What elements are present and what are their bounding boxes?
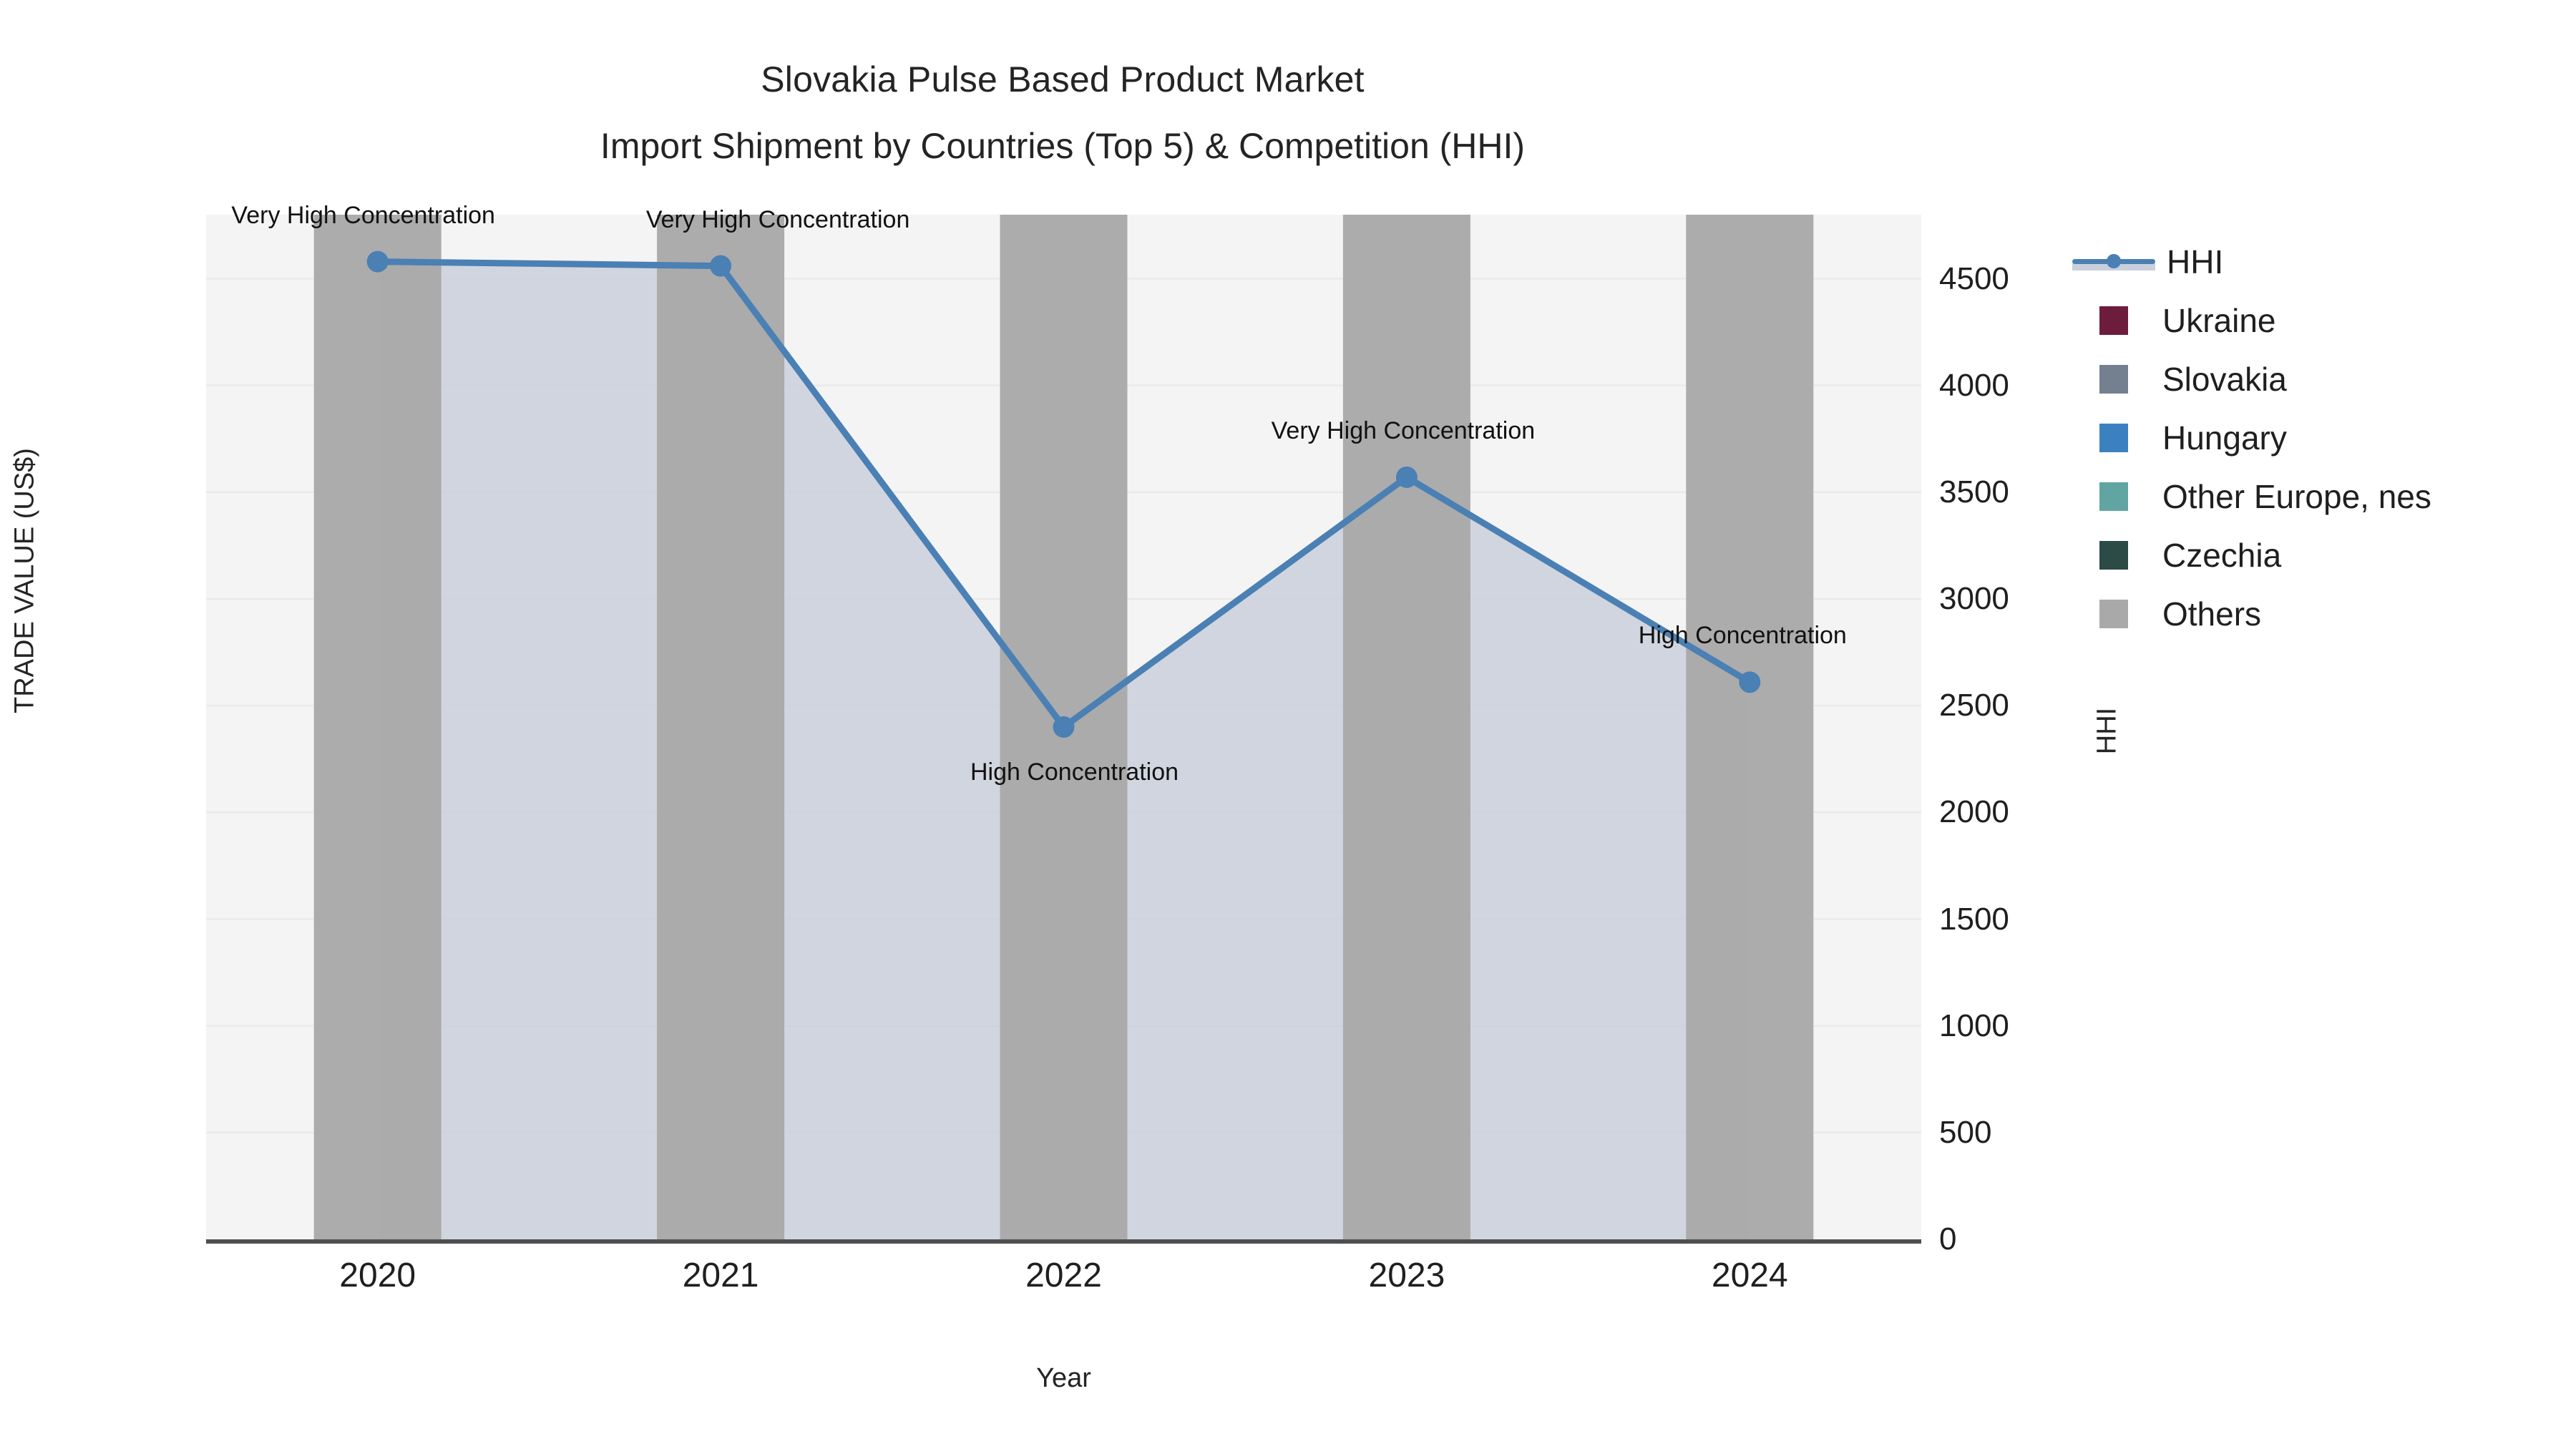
y-axis-right-tick: 4000 [1939,368,2009,404]
y-axis-right-tick: 2000 [1939,794,2009,830]
y-axis-right-tick: 1000 [1939,1008,2009,1044]
legend-color-swatch-icon [2099,365,2128,394]
x-axis-tick: 2024 [1712,1256,1788,1295]
y-axis-right-tick: 0 [1939,1221,1956,1257]
chart-title: Slovakia Pulse Based Product Market [0,56,2125,103]
y-axis-left-title: TRADE VALUE (US$) [10,395,41,767]
y-axis-right-tick: 4500 [1939,261,2009,297]
plot-svg [206,215,1921,1239]
legend-item-ukraine[interactable]: Ukraine [2067,291,2567,350]
legend-color-swatch-icon [2099,541,2128,570]
legend-item-label: Ukraine [2162,301,2276,340]
concentration-annotation: High Concentration [1639,622,1847,650]
concentration-annotation: Very High Concentration [1272,417,1536,445]
legend-item-label: Hungary [2162,419,2287,457]
concentration-annotation: Very High Concentration [646,206,910,234]
concentration-annotation: Very High Concentration [231,202,495,230]
x-axis-baseline [206,1239,1921,1244]
y-axis-right-tick: 1500 [1939,902,2009,937]
chart-legend: HHIUkraineSlovakiaHungaryOther Europe, n… [2067,233,2567,643]
x-axis-title: Year [206,1363,1921,1394]
legend-item-label: Other Europe, nes [2162,477,2431,516]
legend-item-label: Czechia [2162,536,2281,575]
y-axis-right-title: HHI [2092,660,2123,803]
y-axis-right-tick: 3500 [1939,474,2009,510]
y-axis-right-tick: 2500 [1939,688,2009,723]
chart-subtitle: Import Shipment by Countries (Top 5) & C… [0,125,2125,167]
legend-item-label: Others [2162,595,2261,633]
x-axis-tick: 2021 [683,1256,759,1295]
legend-line-marker-icon [2071,248,2157,276]
y-axis-right-tick: 500 [1939,1115,1991,1151]
x-axis-tick: 2023 [1369,1256,1445,1295]
concentration-annotation: High Concentration [970,758,1179,786]
legend-item-others[interactable]: Others [2067,585,2567,643]
x-axis-tick: 2022 [1025,1256,1102,1295]
x-axis-tick: 2020 [339,1256,416,1295]
legend-item-slovakia[interactable]: Slovakia [2067,350,2567,409]
legend-item-hhi[interactable]: HHI [2067,233,2567,291]
legend-item-label: Slovakia [2162,360,2287,399]
legend-item-hungary[interactable]: Hungary [2067,409,2567,467]
y-axis-right-tick: 3000 [1939,581,2009,617]
legend-color-swatch-icon [2099,306,2128,335]
legend-color-swatch-icon [2099,482,2128,511]
legend-item-czechia[interactable]: Czechia [2067,526,2567,585]
plot-area [206,215,1921,1239]
legend-item-other-europe-nes[interactable]: Other Europe, nes [2067,467,2567,526]
legend-color-swatch-icon [2099,600,2128,628]
legend-item-label: HHI [2167,243,2223,281]
legend-color-swatch-icon [2099,424,2128,452]
